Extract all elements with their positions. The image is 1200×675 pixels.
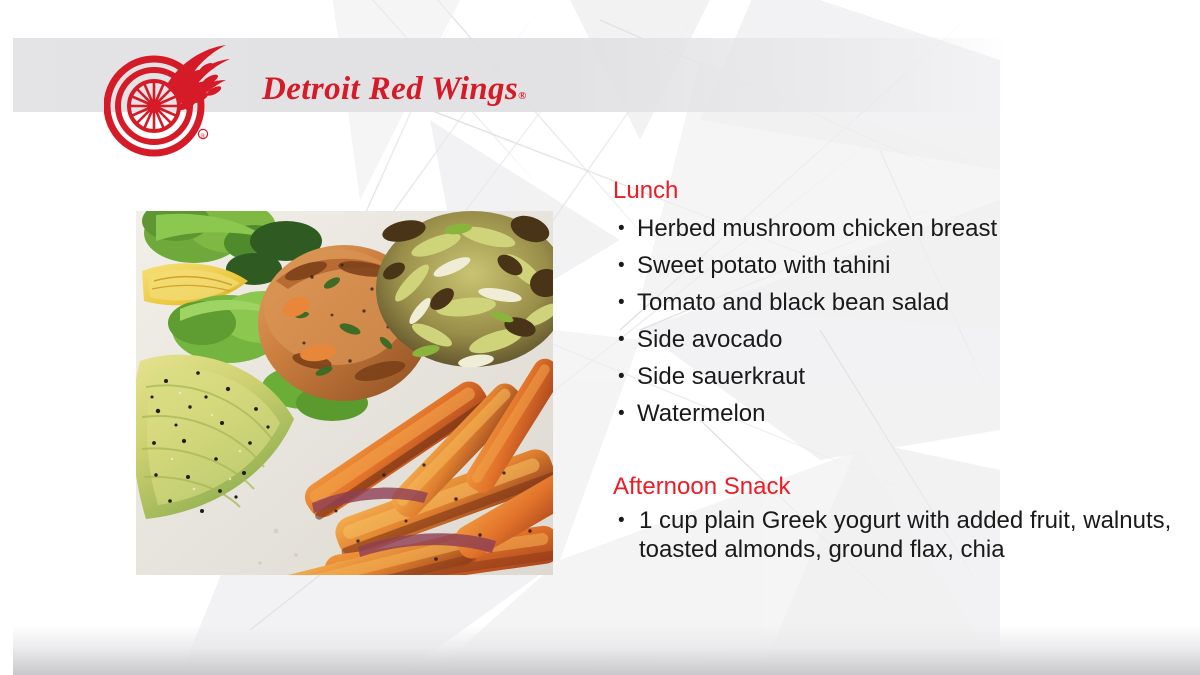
afternoon-snack-list: 1 cup plain Greek yogurt with added frui… — [613, 506, 1183, 564]
list-item: Tomato and black bean salad — [613, 284, 1183, 321]
afternoon-snack-block: Afternoon Snack 1 cup plain Greek yogurt… — [613, 472, 1183, 564]
list-item: Sweet potato with tahini — [613, 247, 1183, 284]
list-item: 1 cup plain Greek yogurt with added frui… — [613, 506, 1183, 564]
lunch-heading: Lunch — [613, 176, 1183, 206]
svg-text:R: R — [201, 133, 205, 139]
wordmark-text: Detroit Red Wings — [262, 71, 518, 107]
list-item: Side avocado — [613, 321, 1183, 358]
afternoon-snack-heading: Afternoon Snack — [613, 472, 1183, 502]
wordmark: Detroit Red Wings® — [262, 64, 562, 114]
footer-band — [13, 625, 1200, 675]
slide-canvas: R Detroit Red Wings® — [0, 0, 1200, 675]
meal-photo — [136, 211, 553, 575]
list-item: Herbed mushroom chicken breast — [613, 210, 1183, 247]
menu-content: Lunch Herbed mushroom chicken breast Swe… — [613, 176, 1183, 564]
list-item: Watermelon — [613, 395, 1183, 432]
lunch-block: Lunch Herbed mushroom chicken breast Swe… — [613, 176, 1183, 432]
list-item: Side sauerkraut — [613, 358, 1183, 395]
registered-mark: ® — [518, 90, 527, 102]
detroit-red-wings-logo: R — [104, 42, 230, 160]
lunch-list: Herbed mushroom chicken breast Sweet pot… — [613, 210, 1183, 432]
